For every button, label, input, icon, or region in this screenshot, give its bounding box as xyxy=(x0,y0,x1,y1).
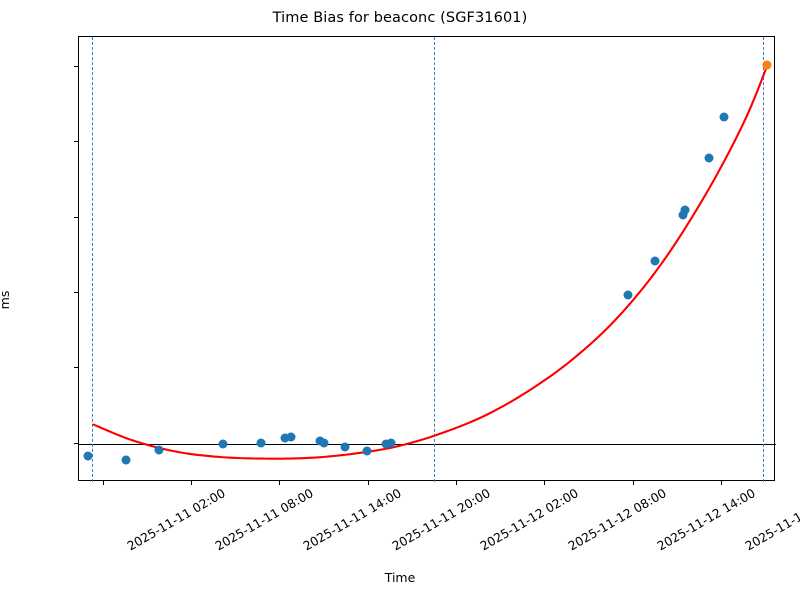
predicted-data-point[interactable] xyxy=(763,61,772,70)
x-tick-label: 2025-11-11 20:00 xyxy=(389,486,492,554)
chart-title: Time Bias for beaconc (SGF31601) xyxy=(0,10,800,26)
plot-area xyxy=(78,36,775,481)
observed-data-point[interactable] xyxy=(154,445,163,454)
observed-data-point[interactable] xyxy=(681,206,690,215)
x-tick-label: 2025-11-11 02:00 xyxy=(124,486,227,554)
x-tick-label: 2025-11-12 02:00 xyxy=(478,486,581,554)
observed-data-point[interactable] xyxy=(287,432,296,441)
observed-data-point[interactable] xyxy=(650,257,659,266)
x-tick-label: 2025-11-11 14:00 xyxy=(301,486,404,554)
x-axis-label: Time xyxy=(0,570,800,585)
observed-data-point[interactable] xyxy=(720,112,729,121)
observed-data-point[interactable] xyxy=(386,439,395,448)
chart-figure: Time Bias for beaconc (SGF31601) ms 0246… xyxy=(0,0,800,600)
fit-curve xyxy=(94,65,768,458)
x-tick-label: 2025-11-12 14:00 xyxy=(654,486,757,554)
observed-data-point[interactable] xyxy=(320,438,329,447)
fit-curve-layer xyxy=(79,37,776,482)
observed-data-point[interactable] xyxy=(256,439,265,448)
y-axis-label: ms xyxy=(0,291,12,310)
observed-data-point[interactable] xyxy=(83,451,92,460)
observed-data-point[interactable] xyxy=(341,442,350,451)
observed-data-point[interactable] xyxy=(363,446,372,455)
x-tick-label: 2025-11-11 08:00 xyxy=(213,486,316,554)
observed-data-point[interactable] xyxy=(218,439,227,448)
x-tick-label: 2025-11-12 08:00 xyxy=(566,486,669,554)
observed-data-point[interactable] xyxy=(121,456,130,465)
observed-data-point[interactable] xyxy=(623,290,632,299)
observed-data-point[interactable] xyxy=(704,153,713,162)
